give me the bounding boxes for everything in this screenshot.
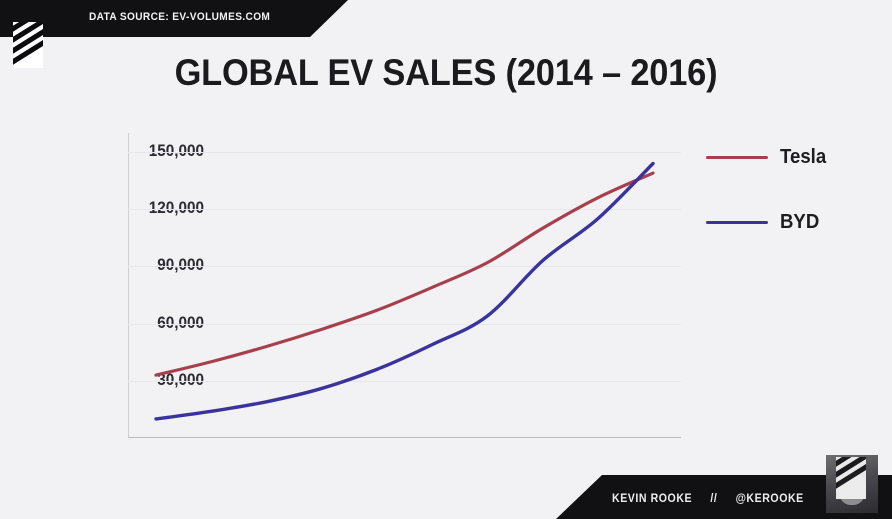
legend: Tesla BYD xyxy=(706,146,830,276)
series-line-tesla xyxy=(156,173,653,375)
footer-separator: // xyxy=(710,493,717,505)
legend-item-tesla: Tesla xyxy=(706,146,830,169)
chart-screenshot: DATA SOURCE: EV-VOLUMES.COM GLOBAL EV SA… xyxy=(0,0,892,519)
legend-swatch-tesla xyxy=(706,156,768,160)
data-source-label: DATA SOURCE: EV-VOLUMES.COM xyxy=(89,11,270,23)
plot-area: Q1 2014Q2 2014Q3 2014Q4 2014Q1 2015Q2 20… xyxy=(128,133,681,438)
series-line-byd xyxy=(156,164,653,419)
footer-credit: KEVIN ROOKE // @KEROOKE xyxy=(612,493,804,505)
legend-label-byd: BYD xyxy=(780,211,819,234)
page-title: GLOBAL EV SALES (2014 – 2016) xyxy=(31,52,861,94)
footer-handle: @KEROOKE xyxy=(736,493,804,505)
legend-label-tesla: Tesla xyxy=(780,146,826,169)
legend-swatch-byd xyxy=(706,221,768,225)
avatar xyxy=(826,455,878,513)
legend-item-byd: BYD xyxy=(706,211,830,234)
avatar-logo-icon xyxy=(836,457,866,499)
footer-author: KEVIN ROOKE xyxy=(612,493,692,505)
series-lines xyxy=(128,133,681,438)
